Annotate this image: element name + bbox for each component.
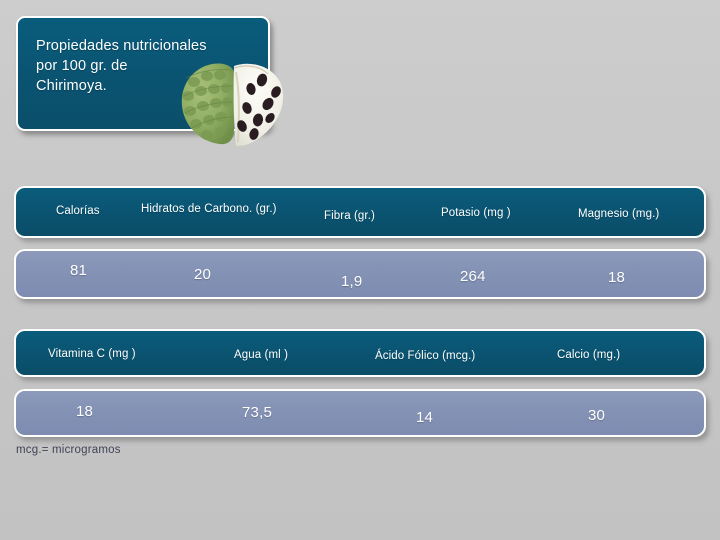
table1-header-row: Calorías Hidratos de Carbono. (gr.) Fibr… bbox=[14, 186, 706, 238]
table2-header-acido-folico: Ácido Fólico (mcg.) bbox=[375, 350, 475, 362]
table1-value-calorias: 81 bbox=[70, 262, 87, 279]
footnote-text: mcg.= microgramos bbox=[16, 444, 121, 456]
slide-canvas: Propiedades nutricionales por 100 gr. de… bbox=[0, 0, 720, 540]
table1-value-fibra: 1,9 bbox=[341, 273, 362, 290]
table1-header-cells: Calorías Hidratos de Carbono. (gr.) Fibr… bbox=[16, 188, 704, 236]
table2-value-cells: 18 73,5 14 30 bbox=[16, 391, 704, 435]
table2-value-calcio: 30 bbox=[588, 407, 605, 424]
table1-header-magnesio: Magnesio (mg.) bbox=[578, 208, 659, 220]
table2-header-vitamina-c: Vitamina C (mg ) bbox=[48, 348, 136, 360]
table1-header-fibra: Fibra (gr.) bbox=[324, 210, 375, 222]
table1-value-row: 81 20 1,9 264 18 bbox=[14, 249, 706, 299]
table2-header-cells: Vitamina C (mg ) Agua (ml ) Ácido Fólico… bbox=[16, 331, 704, 375]
table2-value-row: 18 73,5 14 30 bbox=[14, 389, 706, 437]
table1-value-potasio: 264 bbox=[460, 268, 486, 285]
table2-value-vitamina-c: 18 bbox=[76, 403, 93, 420]
chirimoya-fruit-image bbox=[176, 56, 292, 148]
table2-header-calcio: Calcio (mg.) bbox=[557, 349, 620, 361]
table1-value-magnesio: 18 bbox=[608, 269, 625, 286]
table2-value-agua: 73,5 bbox=[242, 404, 272, 421]
table1-header-hidratos: Hidratos de Carbono. (gr.) bbox=[141, 203, 277, 215]
table1-value-cells: 81 20 1,9 264 18 bbox=[16, 251, 704, 297]
table2-header-row: Vitamina C (mg ) Agua (ml ) Ácido Fólico… bbox=[14, 329, 706, 377]
title-line-1: Propiedades nutricionales bbox=[36, 36, 251, 56]
table2-header-agua: Agua (ml ) bbox=[234, 349, 288, 361]
table2-value-acido-folico: 14 bbox=[416, 409, 433, 426]
table1-header-calorias: Calorías bbox=[56, 205, 100, 217]
table1-value-hidratos: 20 bbox=[194, 266, 211, 283]
table1-header-potasio: Potasio (mg ) bbox=[441, 207, 511, 219]
